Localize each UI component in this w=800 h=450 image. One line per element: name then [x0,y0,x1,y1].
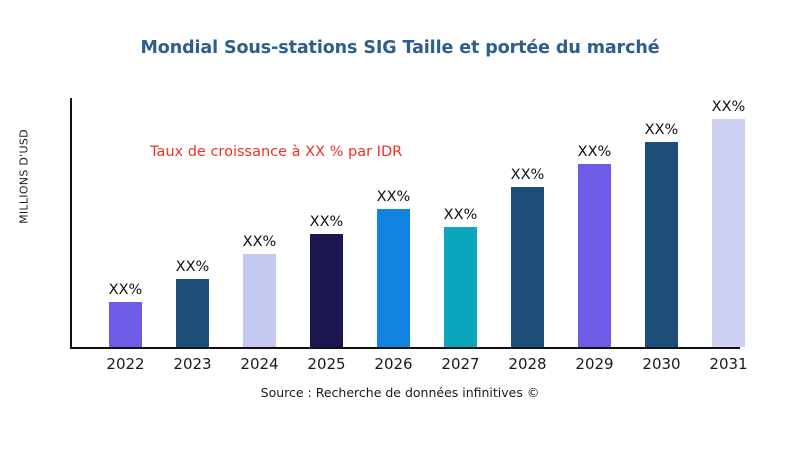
x-tick-label: 2022 [106,355,144,373]
bar-value-label: XX% [444,207,478,223]
bar-value-label: XX% [712,99,746,115]
x-tick-label: 2026 [374,355,412,373]
bar[interactable] [645,142,678,347]
bar-group: XX%2030 [645,97,678,347]
x-tick-label: 2031 [709,355,747,373]
bar-value-label: XX% [109,282,143,298]
x-axis-line [70,347,740,349]
x-tick-label: 2023 [173,355,211,373]
bar-group: XX%2025 [310,97,343,347]
bar-group: XX%2024 [243,97,276,347]
growth-rate-annotation: Taux de croissance à XX % par IDR [150,144,402,160]
bar-group: XX%2029 [578,97,611,347]
x-tick-label: 2024 [240,355,278,373]
bar-group: XX%2022 [109,97,142,347]
bar[interactable] [243,254,276,347]
bar-group: XX%2028 [511,97,544,347]
chart-container: Mondial Sous-stations SIG Taille et port… [0,0,800,450]
plot-area: XX%2022XX%2023XX%2024XX%2025XX%2026XX%20… [70,98,785,348]
bar[interactable] [444,227,477,347]
bar[interactable] [109,302,142,347]
x-tick-label: 2027 [441,355,479,373]
source-note: Source : Recherche de données infinitive… [0,385,800,400]
bar[interactable] [176,279,209,347]
x-tick-label: 2029 [575,355,613,373]
bar[interactable] [578,164,611,347]
bar-value-label: XX% [645,122,679,138]
bar-value-label: XX% [511,167,545,183]
x-tick-label: 2028 [508,355,546,373]
bar-value-label: XX% [243,234,277,250]
x-tick-label: 2025 [307,355,345,373]
bar-value-label: XX% [377,189,411,205]
bar-group: XX%2026 [377,97,410,347]
bar-group: XX%2023 [176,97,209,347]
bar-value-label: XX% [578,144,612,160]
bar[interactable] [712,119,745,347]
y-axis-label: MILLIONS D'USD [18,107,31,247]
bar-group: XX%2031 [712,97,745,347]
bar[interactable] [310,234,343,347]
bar-group: XX%2027 [444,97,477,347]
chart-title: Mondial Sous-stations SIG Taille et port… [0,38,800,58]
x-tick-label: 2030 [642,355,680,373]
bar[interactable] [511,187,544,347]
bar-value-label: XX% [310,214,344,230]
y-axis-line [70,98,72,349]
bar-value-label: XX% [176,259,210,275]
bar[interactable] [377,209,410,347]
